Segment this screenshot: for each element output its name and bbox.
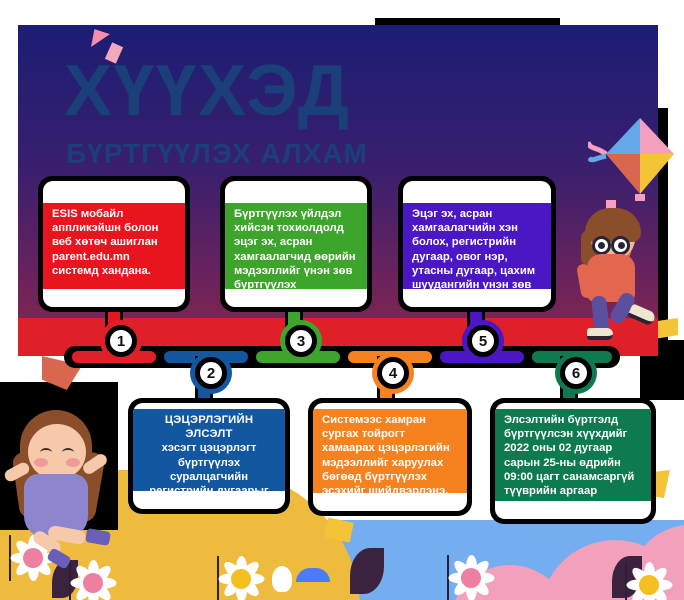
- step-card-body: ESIS мобайл аппликэйшн болон веб хөтөч а…: [52, 208, 158, 277]
- step-card-inner: ESIS мобайл аппликэйшн болон веб хөтөч а…: [43, 181, 185, 307]
- boy-glasses-left: [592, 236, 611, 255]
- girl-cheek-left: [34, 458, 48, 467]
- step-card-text: Бүртгүүлэх үйлдэл хийсэн тохиолдолд эцэг…: [234, 207, 358, 307]
- boy-hair: [585, 208, 641, 242]
- timeline-node-number: 5: [479, 333, 487, 350]
- kite-icon: [588, 116, 680, 202]
- step-card-text: Системээс хамран сургах тойрогт хамаарах…: [322, 413, 458, 498]
- step-card-inner: Системээс хамран сургах тойрогт хамаарах…: [313, 403, 467, 511]
- girl-shoe-front: [85, 528, 111, 546]
- step-card-body: Системээс хамран сургах тойрогт хамаарах…: [322, 414, 450, 497]
- step-card-body: Бүртгүүлэх үйлдэл хийсэн тохиолдолд эцэг…: [234, 208, 356, 305]
- timeline-node-number: 6: [572, 365, 580, 382]
- step-card-inner: ЦЭЦЭРЛЭГИЙН ЭЛСЭЛТ хэсэгт цэцэрлэгт бүрт…: [133, 403, 285, 509]
- step-card-text: Эцэг эх, асран хамгаалагчийн хэн болох, …: [412, 207, 542, 307]
- timeline-node-number: 4: [389, 365, 397, 382]
- boy-shoe-left: [587, 328, 613, 340]
- step-card-1[interactable]: ESIS мобайл аппликэйшн болон веб хөтөч а…: [38, 176, 190, 312]
- timeline-node-4[interactable]: 4: [377, 357, 409, 389]
- step-card-body: хэсэгт цэцэрлэгт бүртгүүлэх суралцагчийн…: [145, 442, 273, 509]
- step-card-3[interactable]: Бүртгүүлэх үйлдэл хийсэн тохиолдолд эцэг…: [220, 176, 372, 312]
- step-card-4[interactable]: Системээс хамран сургах тойрогт хамаарах…: [308, 398, 472, 516]
- boy-shoe-right: [627, 303, 656, 326]
- timeline-node-5[interactable]: 5: [467, 325, 499, 357]
- page-title: ХҮҮХЭД: [64, 57, 351, 125]
- step-card-6[interactable]: Элсэлтийн бүртгэлд бүртгүүлсэн хүүхдийг …: [490, 398, 656, 524]
- timeline-node-6[interactable]: 6: [560, 357, 592, 389]
- girl-face: [28, 424, 86, 480]
- girl-eye-left: [40, 448, 52, 457]
- page-subtitle: БҮРТГҮҮЛЭХ АЛХАМ: [66, 138, 368, 170]
- step-card-inner: Эцэг эх, асран хамгаалагчийн хэн болох, …: [403, 181, 551, 307]
- step-card-title: ЦЭЦЭРЛЭГИЙН ЭЛСЭЛТ: [142, 413, 276, 441]
- step-card-text: Элсэлтийн бүртгэлд бүртгүүлсэн хүүхдийг …: [504, 413, 642, 513]
- step-card-body: Элсэлтийн бүртгэлд бүртгүүлсэн хүүхдийг …: [504, 414, 634, 511]
- step-card-inner: Бүртгүүлэх үйлдэл хийсэн тохиолдолд эцэг…: [225, 181, 367, 307]
- step-card-text: ESIS мобайл аппликэйшн болон веб хөтөч а…: [52, 207, 176, 278]
- timeline-node-number: 1: [117, 333, 125, 350]
- boy-illustration: [573, 196, 663, 336]
- infographic-canvas: ЦЭЦЭРЛЭГ ХҮҮХЭД БҮРТГҮҮЛЭХ АЛХАМ: [0, 0, 684, 600]
- timeline-node-1[interactable]: 1: [105, 325, 137, 357]
- step-card-5[interactable]: Эцэг эх, асран хамгаалагчийн хэн болох, …: [398, 176, 556, 312]
- step-card-text: ЦЭЦЭРЛЭГИЙН ЭЛСЭЛТ хэсэгт цэцэрлэгт бүрт…: [142, 413, 276, 509]
- timeline-node-3[interactable]: 3: [285, 325, 317, 357]
- timeline-node-2[interactable]: 2: [195, 357, 227, 389]
- timeline-node-number: 2: [207, 365, 215, 382]
- girl-eye-right: [62, 448, 74, 457]
- kite-illustration: [588, 116, 680, 202]
- step-card-inner: Элсэлтийн бүртгэлд бүртгүүлсэн хүүхдийг …: [495, 403, 651, 519]
- confetti-white: [272, 566, 292, 592]
- timeline-node-number: 3: [297, 333, 305, 350]
- girl-cheek-right: [66, 458, 80, 467]
- step-card-2[interactable]: ЦЭЦЭРЛЭГИЙН ЭЛСЭЛТ хэсэгт цэцэрлэгт бүрт…: [128, 398, 290, 514]
- step-card-body: Эцэг эх, асран хамгаалагчийн хэн болох, …: [412, 208, 536, 307]
- boy-glasses-right: [611, 236, 630, 255]
- girl-illustration: [2, 400, 142, 565]
